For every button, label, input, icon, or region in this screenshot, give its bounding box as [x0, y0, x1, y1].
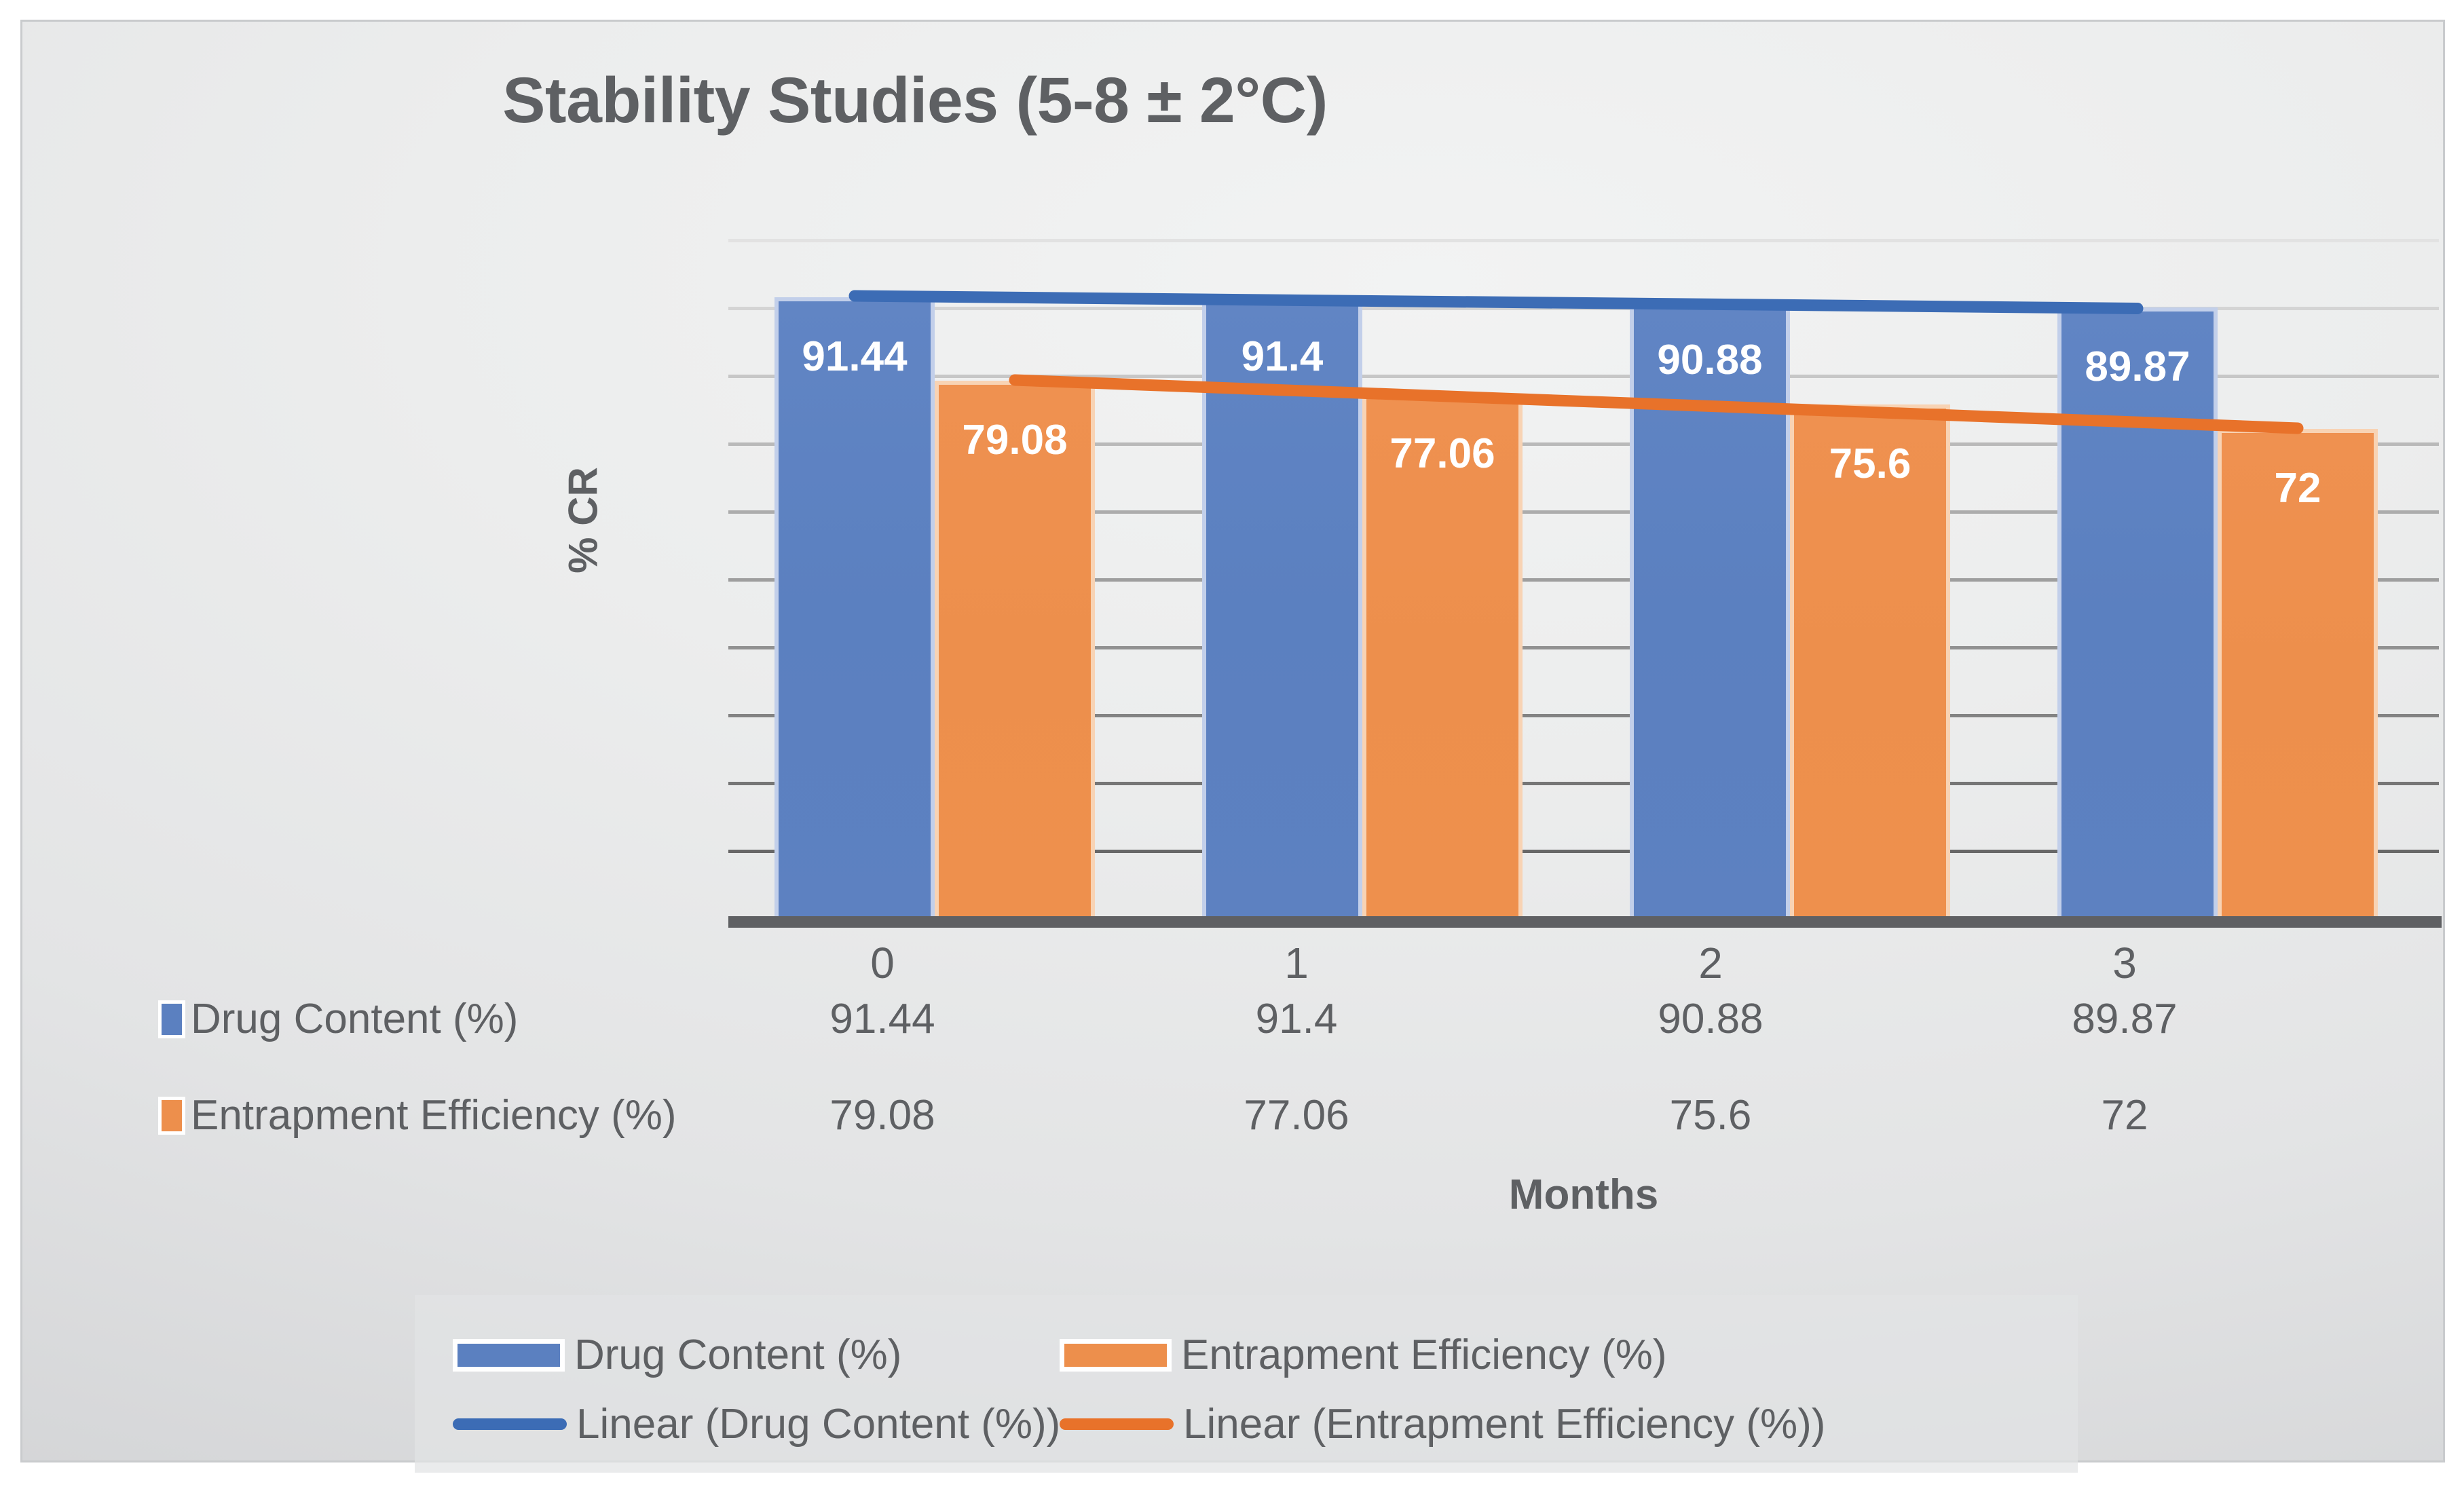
legend-line-icon [1060, 1418, 1174, 1430]
data-table-cell: 91.44 [767, 995, 998, 1043]
data-table-cell: 89.87 [2009, 995, 2240, 1043]
bar-value-label: 91.4 [1206, 333, 1358, 381]
series-color-swatch [158, 1097, 185, 1135]
legend-color-box-icon [1060, 1339, 1172, 1372]
bar[interactable]: 77.06 [1362, 394, 1523, 918]
plot-area: 91.4491.490.8889.8779.0877.0675.672 [728, 239, 2439, 918]
bar-value-label: 91.44 [779, 333, 931, 381]
legend-line-icon [453, 1418, 567, 1430]
bar[interactable]: 91.44 [774, 297, 935, 918]
data-table-row-label-text: Drug Content (%) [191, 995, 518, 1043]
x-axis-title: Months [728, 1171, 2439, 1219]
data-table-cell: 91.4 [1181, 995, 1412, 1043]
data-table-cell: 77.06 [1181, 1091, 1412, 1139]
legend-entry-entrapment-efficiency[interactable]: Entrapment Efficiency (%) [1060, 1331, 1667, 1379]
data-table-row-label: Drug Content (%) [158, 995, 518, 1043]
legend-color-box-icon [453, 1339, 565, 1372]
chart-container: Stability Studies (5-8 ± 2°C) % CR 91.44… [20, 20, 2445, 1462]
data-table-cell: 79.08 [767, 1091, 998, 1139]
chart-title: Stability Studies (5-8 ± 2°C) [22, 64, 1808, 138]
legend-entry-linear-drug-content[interactable]: Linear (Drug Content (%)) [453, 1400, 1060, 1448]
data-table-row-label-text: Entrapment Efficiency (%) [191, 1091, 677, 1139]
x-tick-label: 1 [1215, 938, 1378, 988]
y-axis-title: % CR [560, 412, 607, 629]
legend-label: Linear (Entrapment Efficiency (%)) [1183, 1400, 1825, 1448]
bar-value-label: 90.88 [1634, 336, 1786, 384]
chart-legend: Drug Content (%) Entrapment Efficiency (… [415, 1295, 2078, 1473]
legend-entry-linear-entrapment-efficiency[interactable]: Linear (Entrapment Efficiency (%)) [1060, 1400, 1825, 1448]
legend-label: Drug Content (%) [574, 1331, 901, 1379]
data-table-row-label: Entrapment Efficiency (%) [158, 1091, 677, 1139]
bar[interactable]: 90.88 [1630, 301, 1790, 918]
legend-label: Linear (Drug Content (%)) [576, 1400, 1060, 1448]
bar[interactable]: 72 [2218, 429, 2378, 918]
data-table-cell: 75.6 [1595, 1091, 1826, 1139]
gridline [728, 239, 2439, 242]
legend-label: Entrapment Efficiency (%) [1181, 1331, 1667, 1379]
data-table-cell: 72 [2009, 1091, 2240, 1139]
x-tick-label: 3 [2043, 938, 2206, 988]
x-tick-label: 0 [801, 938, 964, 988]
bar[interactable]: 89.87 [2057, 307, 2218, 918]
bar-value-label: 75.6 [1794, 440, 1946, 488]
bar[interactable]: 79.08 [935, 381, 1095, 918]
bar[interactable]: 91.4 [1202, 297, 1362, 918]
bar-value-label: 72 [2222, 464, 2374, 512]
bar-value-label: 77.06 [1366, 430, 1518, 478]
legend-entry-drug-content[interactable]: Drug Content (%) [453, 1331, 901, 1379]
bar-value-label: 79.08 [939, 416, 1091, 464]
x-axis-line [728, 916, 2442, 928]
bar-value-label: 89.87 [2061, 343, 2214, 391]
x-tick-label: 2 [1629, 938, 1792, 988]
series-color-swatch [158, 1000, 185, 1038]
bar[interactable]: 75.6 [1790, 404, 1950, 918]
data-table-cell: 90.88 [1595, 995, 1826, 1043]
